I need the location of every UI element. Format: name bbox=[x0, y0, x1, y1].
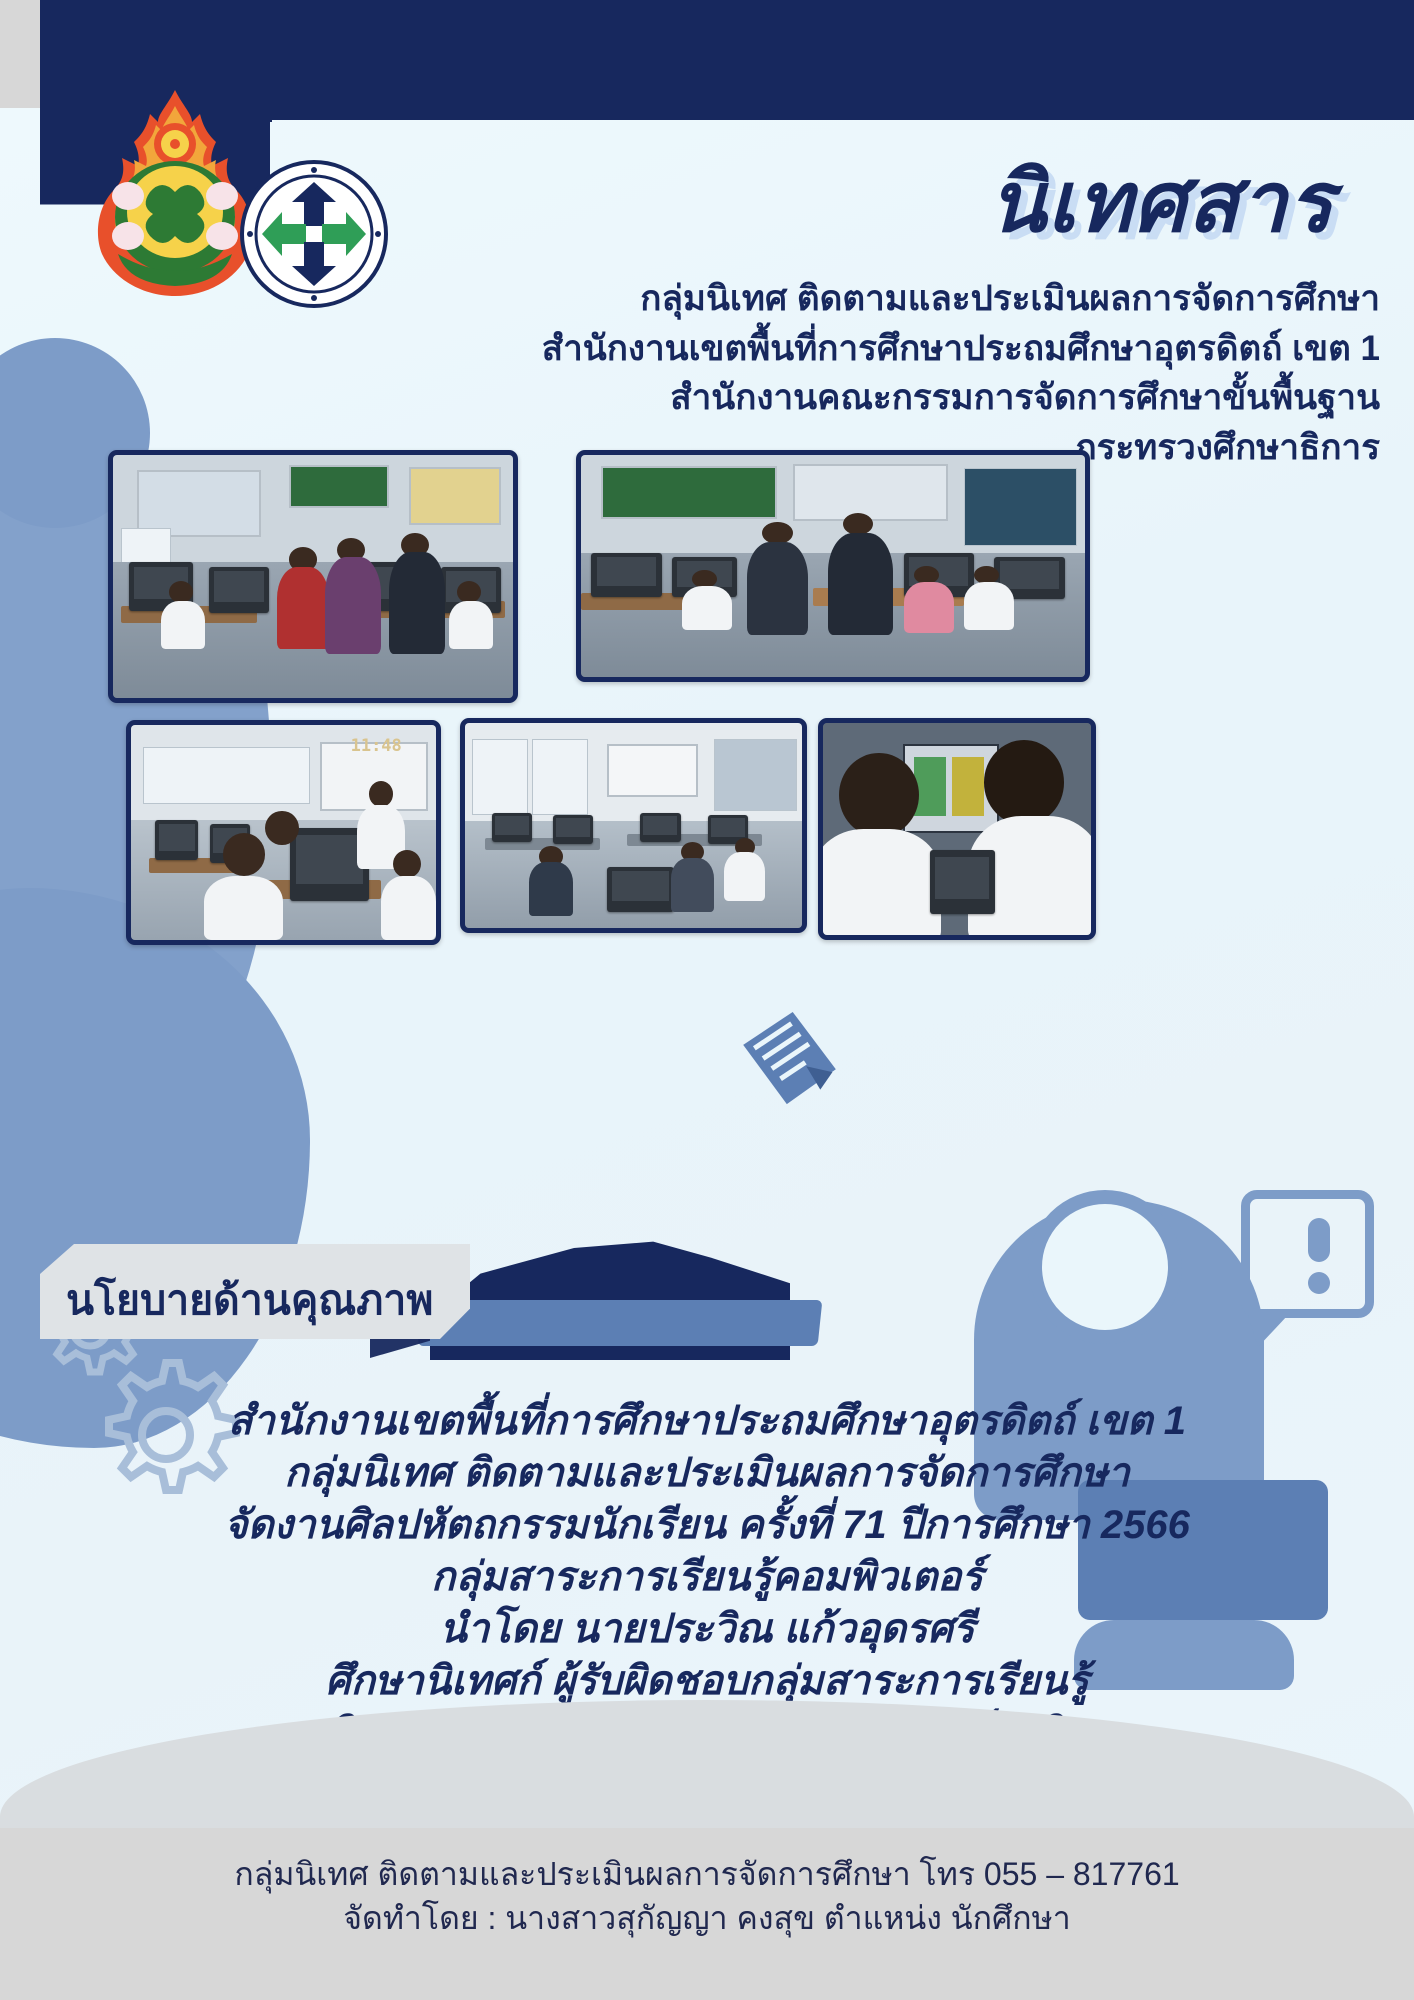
person-body bbox=[724, 852, 764, 901]
wall-board bbox=[289, 465, 389, 508]
window-row bbox=[143, 747, 310, 805]
page-title: นิเทศสาร bbox=[989, 158, 1334, 246]
body-line-1: สำนักงานเขตพื้นที่การศึกษาประถมศึกษาอุตร… bbox=[0, 1395, 1414, 1447]
person-head bbox=[984, 740, 1064, 825]
monitor bbox=[492, 813, 532, 842]
gallery-photo-1 bbox=[108, 450, 518, 703]
photo-scene bbox=[113, 455, 513, 698]
person-head bbox=[762, 522, 792, 544]
monitor bbox=[591, 553, 662, 597]
person-body bbox=[161, 601, 205, 650]
photo-scene bbox=[465, 723, 802, 928]
exclamation-stroke-icon bbox=[1308, 1218, 1330, 1262]
photo-scene bbox=[581, 455, 1085, 677]
person-body bbox=[389, 552, 445, 654]
person-body bbox=[529, 862, 573, 915]
window bbox=[532, 739, 588, 815]
education-area-office-emblem-icon bbox=[240, 160, 388, 308]
person-body bbox=[204, 876, 283, 941]
ministry-garuda-emblem-icon bbox=[88, 84, 262, 302]
projector-screen bbox=[607, 744, 699, 797]
screen-content bbox=[952, 757, 984, 816]
gallery-photo-5 bbox=[818, 718, 1096, 940]
person-body bbox=[818, 829, 941, 940]
person-body bbox=[449, 601, 493, 650]
wall-chart bbox=[793, 464, 948, 521]
person-head bbox=[369, 781, 393, 807]
monitor bbox=[607, 867, 674, 912]
person-head bbox=[393, 850, 420, 878]
wall-board bbox=[601, 466, 776, 519]
org-line-3: สำนักงานคณะกรรมการจัดการศึกษาขั้นพื้นฐาน bbox=[542, 373, 1380, 423]
window bbox=[964, 468, 1077, 545]
navy-header-bar bbox=[222, 0, 1414, 120]
window bbox=[472, 739, 528, 815]
monitor bbox=[209, 567, 269, 613]
screen-content bbox=[914, 757, 946, 816]
person-body bbox=[277, 567, 329, 650]
person-body bbox=[747, 542, 807, 635]
person-head bbox=[223, 833, 266, 876]
gallery-photo-3: 11:48 bbox=[126, 720, 441, 945]
exclamation-dot-icon bbox=[1308, 1272, 1330, 1294]
person-body bbox=[671, 858, 715, 911]
quality-policy-label: นโยบายด้านคุณภาพ bbox=[66, 1268, 466, 1333]
gallery-photo-2 bbox=[576, 450, 1090, 682]
photo-clock-label: 11:48 bbox=[351, 736, 402, 756]
monitor bbox=[553, 815, 593, 844]
person-body bbox=[964, 582, 1014, 631]
footer-text: กลุ่มนิเทศ ติดตามและประเมินผลการจัดการศึ… bbox=[0, 1852, 1414, 1940]
decorative-arm-highlight bbox=[418, 1300, 823, 1346]
monitor bbox=[640, 813, 680, 842]
body-line-2: กลุ่มนิเทศ ติดตามและประเมินผลการจัดการศึ… bbox=[0, 1447, 1414, 1499]
org-line-1: กลุ่มนิเทศ ติดตามและประเมินผลการจัดการศึ… bbox=[542, 274, 1380, 324]
wall-poster bbox=[137, 470, 261, 537]
photo-scene bbox=[823, 723, 1091, 935]
person-body bbox=[904, 582, 954, 633]
monitor bbox=[155, 820, 198, 861]
wall-chart bbox=[409, 467, 501, 524]
person-body bbox=[381, 876, 436, 941]
body-line-4: กลุ่มสาระการเรียนรู้คอมพิวเตอร์ bbox=[0, 1551, 1414, 1603]
decorative-figure-head bbox=[1028, 1190, 1182, 1344]
footer-contact-line: กลุ่มนิเทศ ติดตามและประเมินผลการจัดการศึ… bbox=[0, 1852, 1414, 1896]
photo-scene: 11:48 bbox=[131, 725, 436, 940]
window bbox=[714, 739, 797, 811]
person-body bbox=[828, 533, 894, 635]
newsletter-poster: ฉบับที่ 214/2566 เมื่อวันที่ 18 ธันวาคม … bbox=[0, 0, 1414, 2000]
person-head bbox=[265, 811, 299, 845]
body-line-3: จัดงานศิลปหัตถกรรมนักเรียน ครั้งที่ 71 ป… bbox=[0, 1499, 1414, 1551]
footer-author-line: จัดทำโดย : นางสาวสุกัญญา คงสุข ตำแหน่ง น… bbox=[0, 1896, 1414, 1940]
org-line-2: สำนักงานเขตพื้นที่การศึกษาประถมศึกษาอุตร… bbox=[542, 324, 1380, 374]
person-body bbox=[682, 586, 732, 630]
gallery-photo-4 bbox=[460, 718, 807, 933]
body-line-5: นำโดย นายประวิณ แก้วอุดรศรี bbox=[0, 1603, 1414, 1655]
organization-lines: กลุ่มนิเทศ ติดตามและประเมินผลการจัดการศึ… bbox=[542, 274, 1380, 473]
person-head bbox=[843, 513, 873, 535]
monitor bbox=[930, 850, 994, 914]
person-body bbox=[325, 557, 381, 654]
